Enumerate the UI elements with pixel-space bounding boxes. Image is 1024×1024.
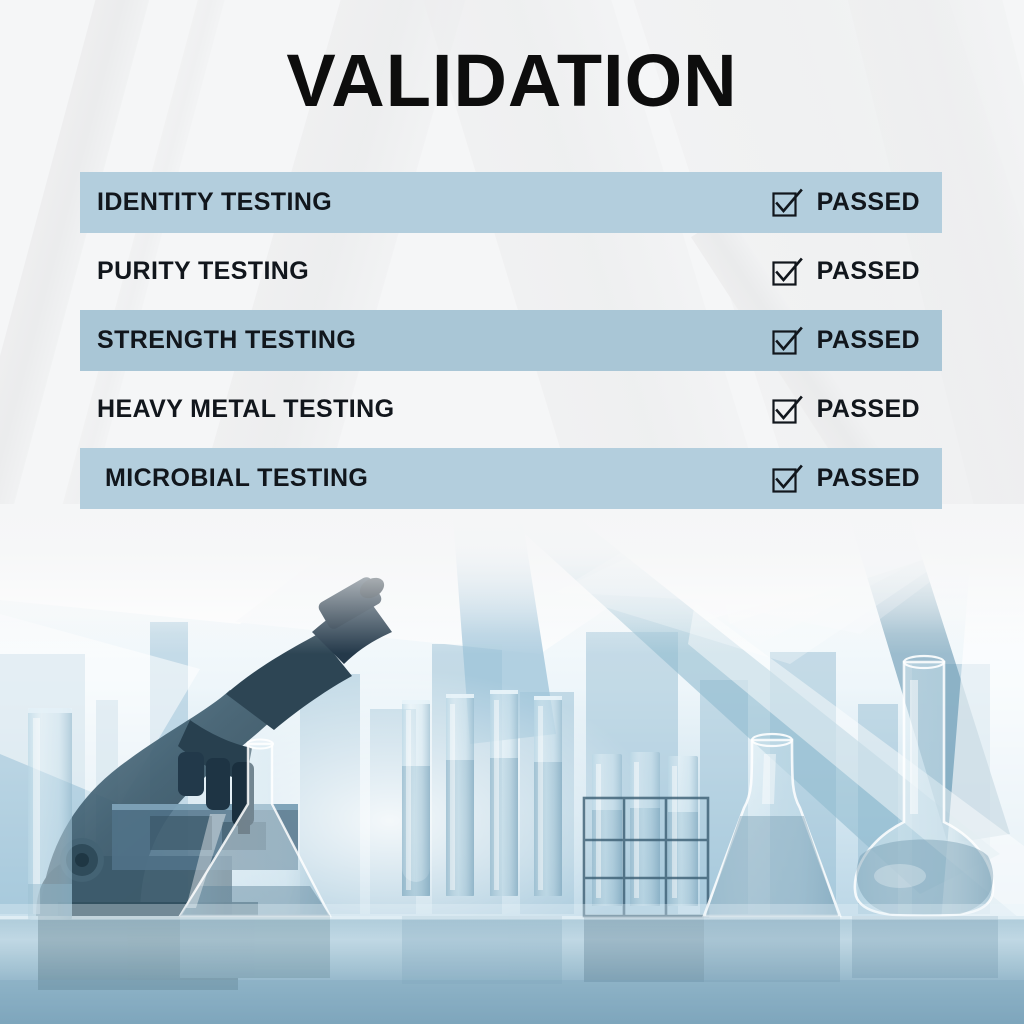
lab-scene-illustration <box>0 504 1024 1024</box>
checklist-row-label: HEAVY METAL TESTING <box>80 395 394 424</box>
checklist-row-status: PASSED <box>771 256 920 288</box>
graduated-cylinder-shape <box>28 708 72 920</box>
checklist-row-purity-testing[interactable]: PURITY TESTING PASSED <box>80 241 942 302</box>
validation-checklist: IDENTITY TESTING PASSED PURITY TESTING P… <box>80 172 942 517</box>
checklist-row-strength-testing[interactable]: STRENGTH TESTING PASSED <box>80 310 942 371</box>
page-title: VALIDATION <box>0 44 1024 118</box>
checklist-row-microbial-testing[interactable]: MICROBIAL TESTING PASSED <box>80 448 942 509</box>
checklist-status-text: PASSED <box>817 326 920 355</box>
test-tube-rack-shape <box>584 752 708 916</box>
checklist-row-status: PASSED <box>771 463 920 495</box>
checklist-row-status: PASSED <box>771 325 920 357</box>
checklist-row-identity-testing[interactable]: IDENTITY TESTING PASSED <box>80 172 942 233</box>
checklist-row-status: PASSED <box>771 187 920 219</box>
checklist-row-label: STRENGTH TESTING <box>80 326 356 355</box>
checklist-status-text: PASSED <box>817 257 920 286</box>
checklist-row-heavy-metal-testing[interactable]: HEAVY METAL TESTING PASSED <box>80 379 942 440</box>
laboratory-photo <box>0 504 1024 1024</box>
checklist-status-text: PASSED <box>817 395 920 424</box>
checkbox-checked-icon[interactable] <box>771 256 803 288</box>
checklist-row-label: IDENTITY TESTING <box>80 188 332 217</box>
checklist-row-label: MICROBIAL TESTING <box>80 464 368 493</box>
checklist-row-status: PASSED <box>771 394 920 426</box>
checkbox-checked-icon[interactable] <box>771 325 803 357</box>
checkbox-checked-icon[interactable] <box>771 187 803 219</box>
checklist-status-text: PASSED <box>817 188 920 217</box>
checkbox-checked-icon[interactable] <box>771 463 803 495</box>
checklist-status-text: PASSED <box>817 464 920 493</box>
checklist-row-label: PURITY TESTING <box>80 257 309 286</box>
validation-poster: VALIDATION IDENTITY TESTING PASSED PURIT… <box>0 0 1024 1024</box>
checkbox-checked-icon[interactable] <box>771 394 803 426</box>
